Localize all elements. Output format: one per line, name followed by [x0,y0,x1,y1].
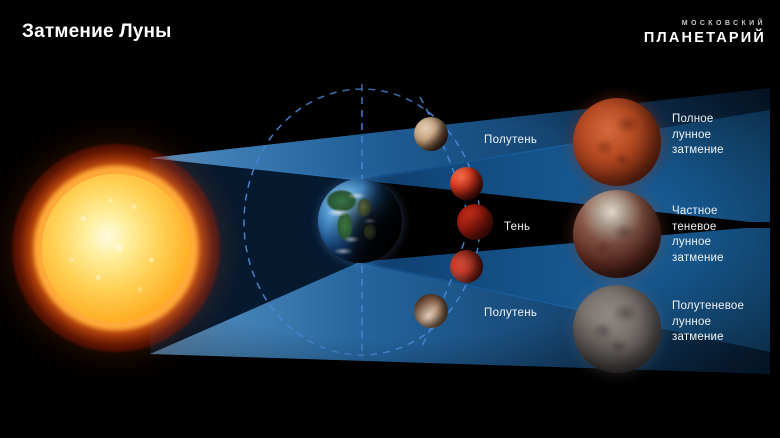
sun [12,144,220,352]
lunar-maria-partial [573,190,661,278]
sun-granulation [42,174,190,322]
photo-partial-eclipse-moon [573,190,661,278]
eclipse-diagram: Полутень Тень Полутень [0,62,780,392]
label-penumbra-top: Полутень [484,134,537,146]
lunar-maria-total [573,98,661,186]
earth-terminator [318,179,402,263]
moscow-planetarium-logo: МОСКОВСКИЙ ПЛАНЕТАРИЙ [644,20,766,46]
penumbra-shading [573,285,661,373]
photo-total-eclipse-moon [573,98,661,186]
logo-line-top: МОСКОВСКИЙ [644,20,766,27]
caption-penumbral-eclipse: Полутеневое лунное затмение [672,299,744,346]
earth [318,179,402,263]
photo-penumbral-eclipse-moon [573,285,661,373]
page-title: Затмение Луны [22,21,172,43]
moon-penumbral-bottom [414,294,448,328]
infographic-lunar-eclipse: Затмение Луны МОСКОВСКИЙ ПЛАНЕТАРИЙ [0,0,780,438]
logo-line-main: ПЛАНЕТАРИЙ [644,31,766,46]
caption-partial-eclipse: Частное теневое лунное затмение [672,204,724,266]
moon-partial-lower [450,250,483,283]
caption-total-eclipse: Полное лунное затмение [672,112,724,159]
label-penumbra-bottom: Полутень [484,307,537,319]
label-umbra: Тень [504,221,530,233]
moon-penumbral-top [414,117,448,151]
moon-total [457,204,493,240]
moon-partial-upper [450,167,483,200]
